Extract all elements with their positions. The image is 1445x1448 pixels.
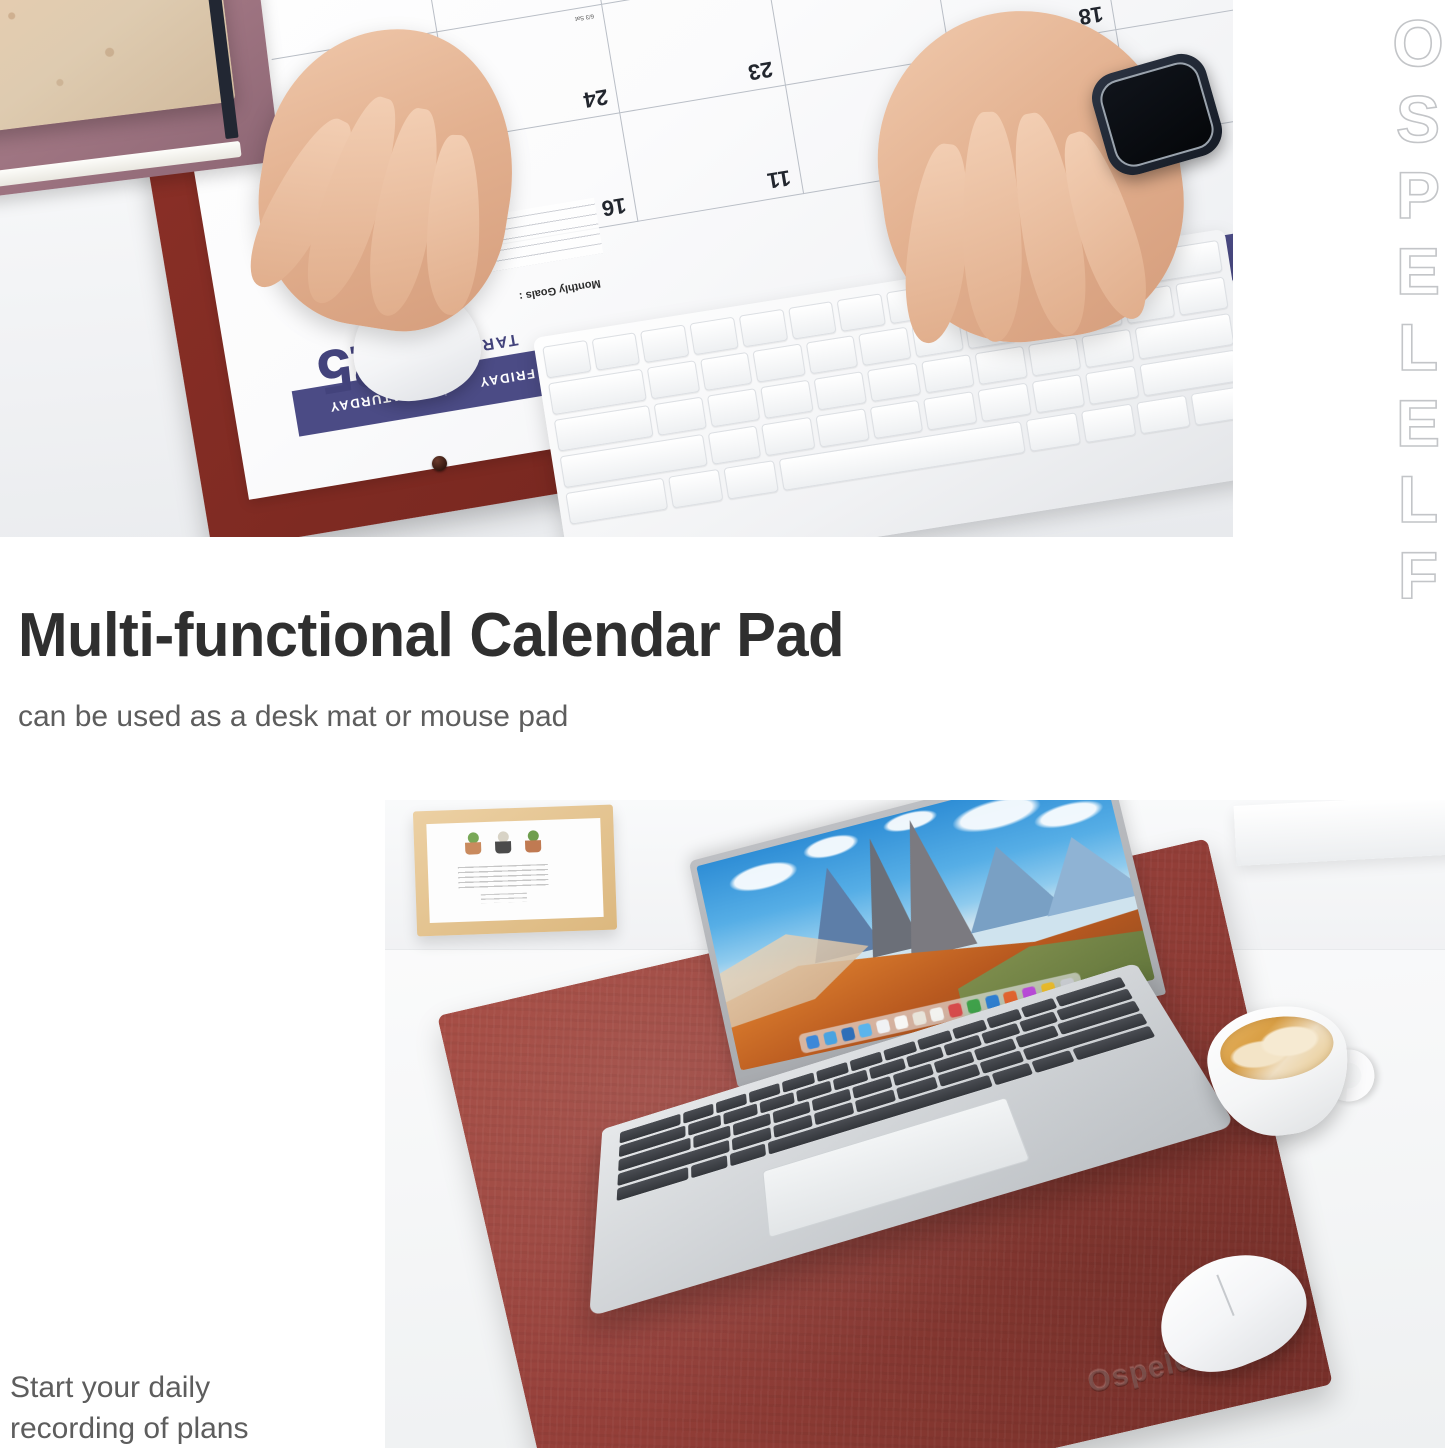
metal-grommet-icon: [432, 456, 447, 471]
keyboard-key: [805, 335, 858, 374]
keyboard-key: [668, 469, 723, 509]
calendar-cell-note: 6/3 Sat: [575, 12, 595, 21]
keyboard-key: [1081, 329, 1134, 368]
keyboard-key: [923, 391, 977, 430]
cappuccino-cup: [1194, 989, 1380, 1151]
dock-icon-messages[interactable]: [858, 1022, 873, 1037]
keyboard-key: [869, 400, 923, 439]
keyboard-key: [867, 363, 920, 402]
dock-icon-reminders[interactable]: [929, 1006, 945, 1022]
page-subtitle: can be used as a desk mat or mouse pad: [18, 700, 568, 734]
keyboard-key: [1136, 395, 1191, 435]
potted-plant-icon: [463, 832, 484, 855]
mouse-button-divider: [1216, 1275, 1234, 1316]
potted-plant-icon: [493, 831, 514, 854]
keyboard-key: [1028, 337, 1081, 376]
dock-icon-finder[interactable]: [805, 1034, 820, 1049]
keyboard-key: [690, 317, 739, 356]
dock-icon-mail[interactable]: [840, 1026, 855, 1041]
potted-plant-icon: [523, 830, 544, 853]
keyboard-key: [739, 309, 788, 348]
keyboard-key: [858, 327, 911, 366]
keyboard-key: [761, 380, 814, 419]
keyboard-key: [1176, 276, 1229, 315]
keyboard-key: [814, 371, 867, 410]
keyboard-key: [700, 352, 753, 391]
top-product-photo: JANUARY 2025 FEBRUARY 2025 MARCH 2025 AP…: [0, 0, 1233, 537]
keyboard-key: [788, 301, 837, 340]
keyboard-key: [1026, 412, 1081, 452]
keyboard-key: [977, 383, 1031, 422]
keyboard-key: [762, 417, 816, 456]
keyboard-key: [647, 360, 700, 399]
keyboard-key: [723, 460, 778, 500]
keyboard-key: [640, 324, 689, 363]
calendar-date-number: 23: [746, 56, 774, 86]
dock-icon-maps[interactable]: [948, 1002, 964, 1018]
artwork-text-lines: [458, 864, 549, 889]
brand-watermark: OSPELELF: [1392, 6, 1443, 614]
keyboard-key: [1191, 386, 1233, 426]
dock-icon-notes[interactable]: [911, 1010, 926, 1026]
dock-icon-safari[interactable]: [823, 1030, 838, 1045]
keyboard-key: [708, 425, 762, 464]
keyboard-key: [707, 388, 760, 427]
calendar-date-number: 16: [599, 192, 627, 222]
product-marketing-page: JANUARY 2025 FEBRUARY 2025 MARCH 2025 AP…: [0, 0, 1445, 1448]
keyboard-key: [1081, 404, 1136, 444]
keyboard-key: [1031, 374, 1085, 413]
calendar-date-number: 24: [581, 83, 609, 113]
artwork-text-lines-secondary: [481, 893, 527, 904]
page-title: Multi-functional Calendar Pad: [18, 600, 844, 671]
bottom-caption: Start your daily recording of plans: [10, 1368, 248, 1448]
calendar-monthly-goals-label: Monthly Goals :: [518, 277, 601, 302]
calendar-date-number: 25: [563, 0, 591, 4]
dock-icon-contacts[interactable]: [893, 1014, 908, 1029]
keyboard-key: [753, 343, 806, 382]
keyboard-key: [1085, 366, 1139, 405]
latte-art-surface: [1216, 1010, 1338, 1087]
shelf-edge: [1234, 800, 1445, 866]
keyboard-key: [542, 340, 591, 379]
calendar-date-number: 11: [766, 164, 793, 193]
bottom-product-photo: Ospelelf: [385, 800, 1445, 1448]
caption-line-1: Start your daily: [10, 1368, 248, 1409]
keyboard-key: [837, 293, 886, 332]
dock-icon-calendar[interactable]: [876, 1018, 891, 1033]
smartwatch-face: [1096, 58, 1219, 172]
keyboard-key: [654, 397, 707, 436]
cup-body: [1201, 998, 1357, 1144]
keyboard-key: [591, 332, 640, 371]
keyboard-key: [815, 408, 869, 447]
keyboard-key: [921, 354, 974, 393]
keyboard-key: [974, 346, 1027, 385]
caption-line-2: recording of plans: [10, 1409, 248, 1448]
